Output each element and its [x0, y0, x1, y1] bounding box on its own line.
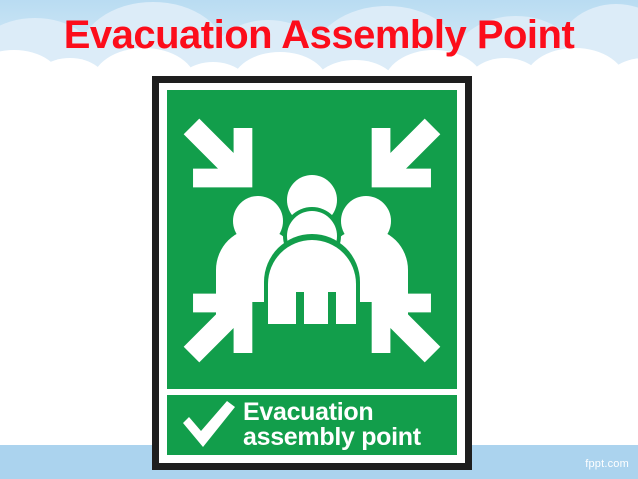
evacuation-sign-image: Evacuation assembly point: [152, 76, 472, 470]
slide-canvas: Evacuation Assembly Point: [0, 0, 638, 479]
watermark-label: fppt.com: [585, 458, 629, 470]
sign-caption-line-2: assembly point: [243, 425, 421, 450]
sign-pictogram-panel: [167, 90, 457, 389]
sign-caption-text: Evacuation assembly point: [243, 400, 421, 450]
checkmark-icon: [179, 401, 237, 449]
arrow-up-right-icon: [179, 289, 257, 367]
page-title: Evacuation Assembly Point: [0, 12, 638, 58]
sign-caption-line-1: Evacuation: [243, 400, 421, 425]
sign-inner-border: Evacuation assembly point: [159, 83, 465, 463]
sign-caption-panel: Evacuation assembly point: [167, 395, 457, 455]
arrow-up-left-icon: [367, 289, 445, 367]
